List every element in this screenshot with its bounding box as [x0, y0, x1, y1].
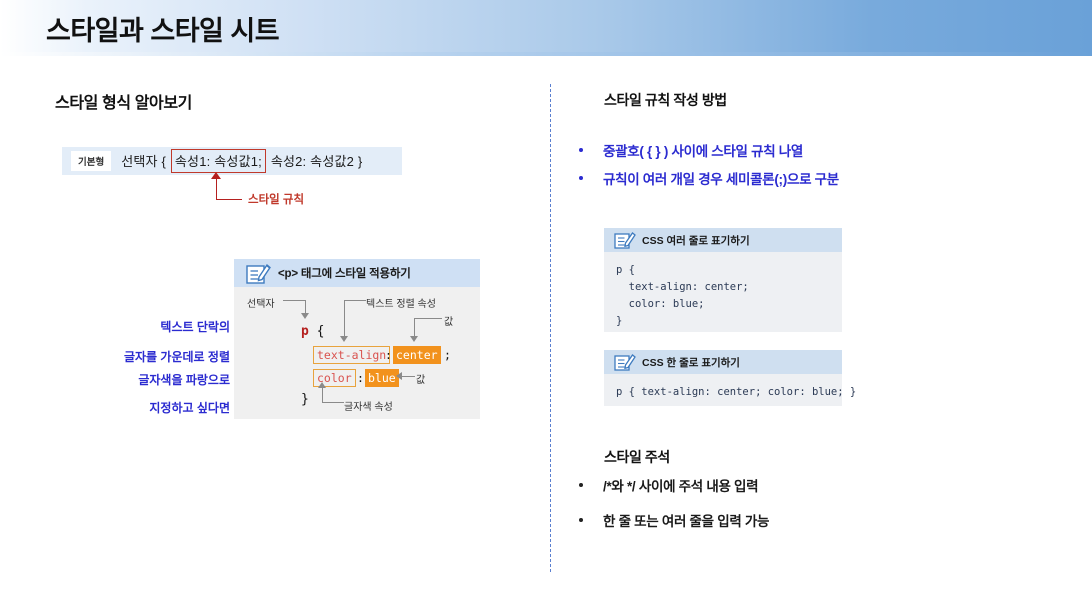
blue-note-4: 지정하고 싶다면	[104, 399, 230, 416]
leader-selector-h	[283, 300, 305, 301]
syntax-suffix: 속성2: 속성값2 }	[271, 154, 363, 169]
figure-close-brace: }	[301, 392, 309, 407]
code-box-multiline-header: CSS 여러 줄로 표기하기	[604, 228, 842, 252]
syntax-badge: 기본형	[71, 151, 111, 171]
figure-value-blue: blue	[365, 369, 399, 387]
code-line: p { text-align: center; color: blue; }	[616, 384, 842, 401]
bullet-dot-icon	[579, 176, 583, 180]
header-underline	[0, 52, 1092, 56]
leader-val2-arrow-icon	[396, 372, 402, 380]
syntax-highlight: 속성1: 속성값1;	[171, 149, 266, 173]
bullet-dot-icon	[579, 518, 583, 522]
comment-bullet-2-text: 한 줄 또는 여러 줄을 입력 가능	[603, 510, 769, 530]
code-box-multiline: CSS 여러 줄로 표기하기 p { text-align: center; c…	[604, 228, 842, 332]
code-box-multiline-body: p { text-align: center; color: blue; }	[604, 252, 842, 340]
callout-vertical-line	[216, 176, 217, 200]
code-line: color: blue;	[616, 296, 842, 313]
notepad-pencil-icon	[613, 352, 637, 374]
rule-bullet-1: 중괄호( { } ) 사이에 스타일 규칙 나열	[579, 140, 803, 160]
figure-annotation-value-1: 값	[444, 313, 453, 328]
left-section-heading: 스타일 형식 알아보기	[55, 89, 192, 113]
notepad-pencil-icon	[613, 230, 637, 252]
figure-annotation-selector: 선택자	[247, 295, 275, 310]
leader-val1-h	[414, 318, 442, 319]
syntax-prefix: 선택자 {	[121, 154, 166, 169]
comment-bullet-2: 한 줄 또는 여러 줄을 입력 가능	[579, 510, 769, 530]
figure-annotation-align: 텍스트 정렬 속성	[366, 295, 436, 310]
figure-annotation-color-prop: 글자색 속성	[344, 398, 393, 413]
notepad-pencil-icon	[244, 261, 272, 287]
figure-caption-text: <p> 태그에 스타일 적용하기	[278, 265, 411, 281]
figure-open-brace: {	[317, 324, 325, 339]
blue-note-1: 텍스트 단락의	[118, 318, 230, 335]
right-section-heading: 스타일 규칙 작성 방법	[604, 90, 727, 110]
code-line: text-align: center;	[616, 279, 842, 296]
leader-val2-h	[402, 376, 415, 377]
leader-align-h	[344, 300, 366, 301]
syntax-bar: 기본형 선택자 { 속성1: 속성값1; 속성2: 속성값2 }	[62, 147, 402, 175]
code-box-singleline-header: CSS 한 줄로 표기하기	[604, 350, 842, 374]
code-line: }	[616, 313, 842, 330]
comment-section-heading: 스타일 주석	[604, 447, 670, 467]
leader-colorprop-h	[322, 402, 344, 403]
figure-annotation-value-2: 값	[416, 371, 425, 386]
leader-colorprop-arrow-icon	[318, 382, 326, 388]
code-box-singleline-title: CSS 한 줄로 표기하기	[642, 355, 740, 370]
figure-value-center: center	[393, 346, 441, 364]
figure-selector: p	[301, 324, 309, 339]
page-title: 스타일과 스타일 시트	[46, 9, 279, 48]
rule-bullet-2-text: 규칙이 여러 개일 경우 세미콜론(;)으로 구분	[603, 168, 839, 188]
leader-align-arrow-icon	[340, 336, 348, 342]
code-line: p {	[616, 262, 842, 279]
leader-colorprop-v	[322, 388, 323, 402]
bullet-dot-icon	[579, 483, 583, 487]
figure-selector-line: p {	[301, 324, 324, 339]
code-box-singleline: CSS 한 줄로 표기하기 p { text-align: center; co…	[604, 350, 842, 406]
column-divider	[550, 84, 551, 572]
figure-colon-2: :	[357, 371, 364, 385]
callout-label: 스타일 규칙	[248, 191, 304, 207]
comment-bullet-1-text: /*와 */ 사이에 주석 내용 입력	[603, 475, 758, 495]
figure-semicolon-1: ;	[444, 348, 451, 362]
blue-note-2: 글자를 가운데로 정렬	[76, 348, 230, 365]
leader-selector-v	[305, 300, 306, 314]
callout-horizontal-line	[216, 199, 242, 200]
figure-prop-text-align: text-align	[313, 346, 390, 364]
bullet-dot-icon	[579, 148, 583, 152]
figure-colon-1: :	[385, 348, 392, 362]
leader-selector-arrow-icon	[301, 313, 309, 319]
rule-bullet-2: 규칙이 여러 개일 경우 세미콜론(;)으로 구분	[579, 168, 839, 188]
leader-val1-v	[414, 318, 415, 337]
blue-note-3: 글자색을 파랑으로	[86, 371, 230, 388]
style-example-figure: <p> 태그에 스타일 적용하기	[234, 259, 480, 419]
rule-bullet-1-text: 중괄호( { } ) 사이에 스타일 규칙 나열	[603, 140, 803, 160]
code-box-singleline-body: p { text-align: center; color: blue; }	[604, 374, 842, 411]
comment-bullet-1: /*와 */ 사이에 주석 내용 입력	[579, 475, 758, 495]
code-box-multiline-title: CSS 여러 줄로 표기하기	[642, 233, 750, 248]
leader-align-v	[344, 300, 345, 337]
syntax-text: 선택자 { 속성1: 속성값1; 속성2: 속성값2 }	[121, 149, 362, 173]
leader-val1-arrow-icon	[410, 336, 418, 342]
figure-caption-bar: <p> 태그에 스타일 적용하기	[234, 259, 480, 287]
